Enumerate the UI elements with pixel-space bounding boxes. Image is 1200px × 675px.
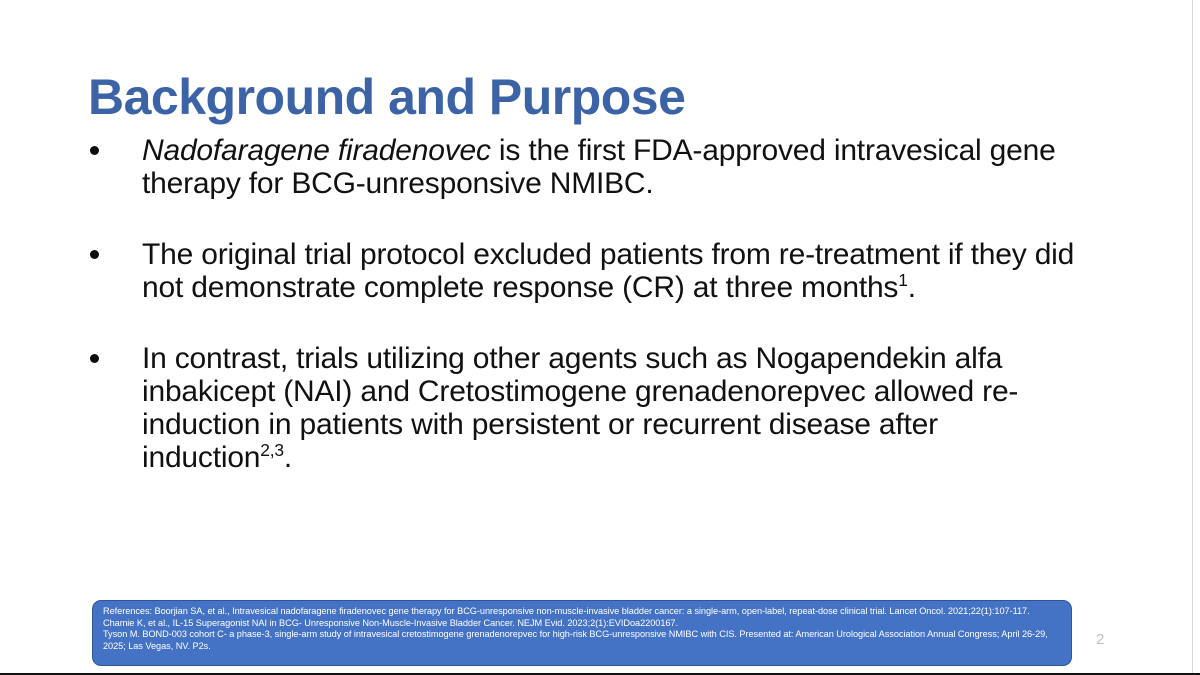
reference-line-3: Tyson M. BOND-003 cohort C- a phase-3, s…: [103, 629, 1061, 652]
bullet-text-other-agents: In contrast, trials utilizing other agen…: [142, 342, 1094, 474]
bullet-tail-punctuation: .: [908, 271, 916, 304]
bullet-emphasis-drug-name: Nadofaragene firadenovec: [142, 134, 491, 167]
list-item-original-trial-protocol: The original trial protocol excluded pat…: [84, 238, 1094, 304]
references-box: References: Boorjian SA, et al., Intrave…: [92, 600, 1072, 666]
bullet-text-nadofaragene: Nadofaragene firadenovec is the first FD…: [142, 134, 1094, 200]
bullet-dot-icon: [90, 250, 99, 259]
bullet-list: Nadofaragene firadenovec is the first FD…: [84, 134, 1094, 474]
bullet-tail-punctuation: .: [284, 441, 292, 474]
list-item-nadofaragene: Nadofaragene firadenovec is the first FD…: [84, 134, 1094, 200]
slide-right-edge-line: [1192, 0, 1193, 675]
presentation-slide: Background and Purpose Nadofaragene fira…: [0, 0, 1200, 675]
bullet-text-original-trial-protocol: The original trial protocol excluded pat…: [142, 238, 1094, 304]
page-title: Background and Purpose: [88, 68, 685, 126]
reference-superscript-2-3: 2,3: [260, 440, 284, 460]
reference-line-2: Chamie K, et al., IL-15 Superagonist NAI…: [103, 618, 1061, 630]
bullet-dot-icon: [90, 146, 99, 155]
bullet-body-text: The original trial protocol excluded pat…: [142, 238, 1074, 304]
reference-line-1: References: Boorjian SA, et al., Intrave…: [103, 606, 1061, 618]
list-item-other-agents: In contrast, trials utilizing other agen…: [84, 342, 1094, 474]
reference-superscript-1: 1: [898, 270, 907, 290]
slide-number: 2: [1096, 631, 1104, 649]
bullet-dot-icon: [90, 354, 99, 363]
